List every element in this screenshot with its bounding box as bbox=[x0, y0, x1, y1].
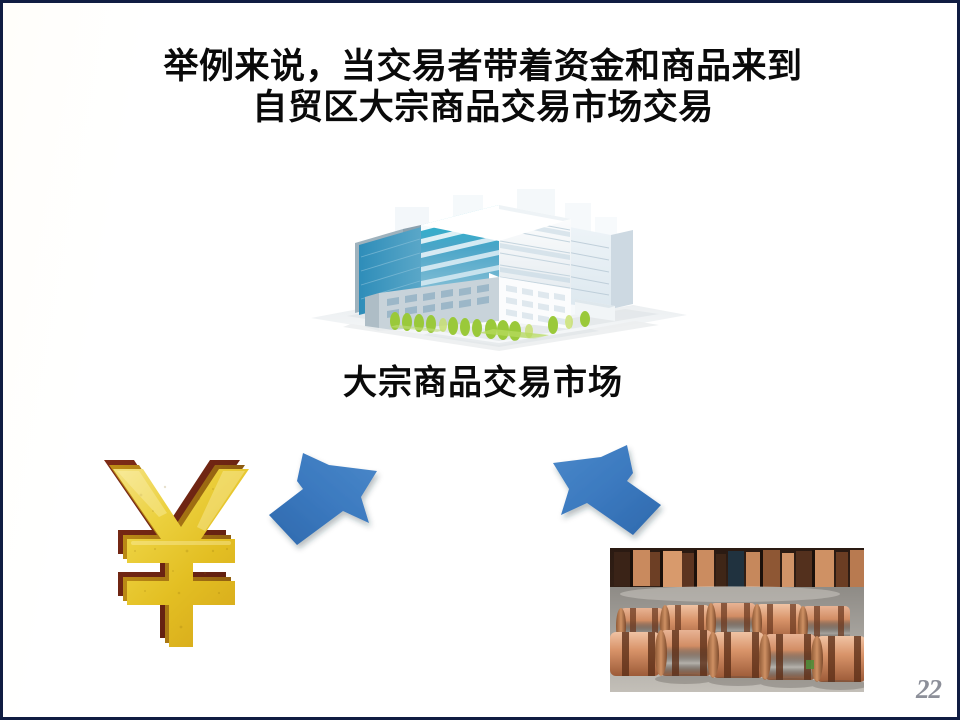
slide-canvas: 举例来说，当交易者带着资金和商品来到 自贸区大宗商品交易市场交易 bbox=[0, 0, 960, 720]
yen-face bbox=[113, 469, 249, 647]
arrow-shape bbox=[553, 445, 661, 535]
copper-wire-coils-photo bbox=[610, 548, 864, 692]
market-label: 大宗商品交易市场 bbox=[3, 355, 960, 404]
page-number: 22 bbox=[916, 674, 941, 705]
gold-yen-symbol bbox=[95, 451, 267, 671]
coil-row-front bbox=[610, 630, 864, 682]
title-line-1: 举例来说，当交易者带着资金和商品来到 bbox=[3, 47, 960, 88]
arrow-money-to-market bbox=[261, 441, 387, 557]
page-title: 举例来说，当交易者带着资金和商品来到 自贸区大宗商品交易市场交易 bbox=[3, 47, 960, 130]
background-coils bbox=[614, 550, 864, 587]
arrow-shape bbox=[269, 453, 377, 545]
title-line-2: 自贸区大宗商品交易市场交易 bbox=[3, 88, 960, 129]
building-illustration bbox=[303, 181, 695, 359]
arrow-goods-to-market bbox=[541, 435, 671, 547]
